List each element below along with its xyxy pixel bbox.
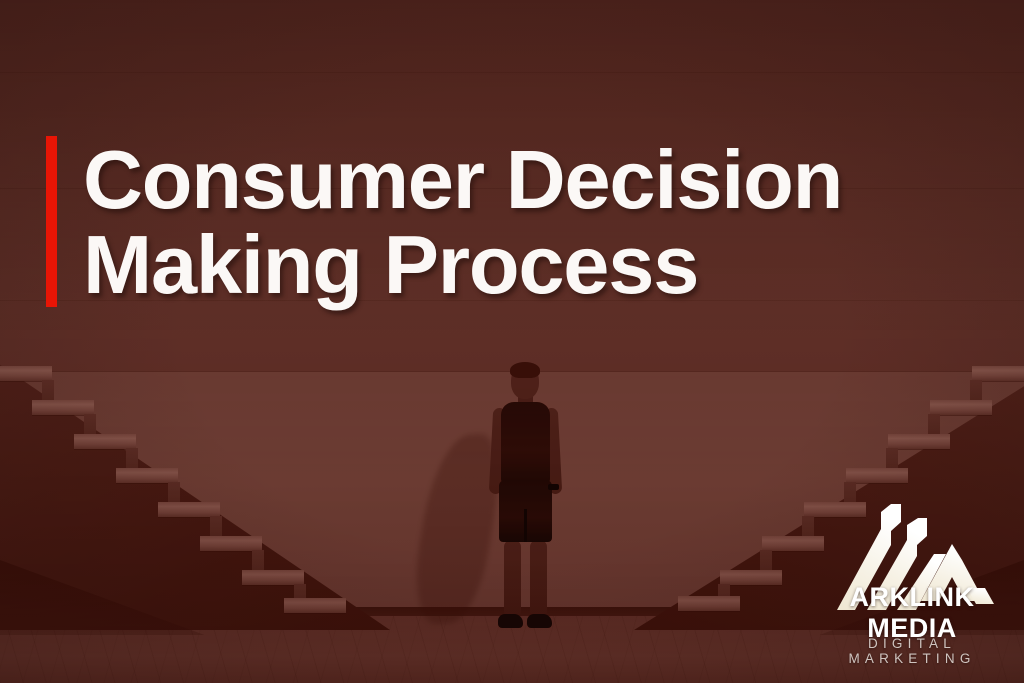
headline-block: Consumer Decision Making Process <box>46 136 842 307</box>
logo-brand-name: ARKLINK MEDIA <box>806 582 1018 644</box>
brand-logo[interactable]: ARKLINK MEDIA DIGITAL MARKETING <box>806 498 1018 670</box>
page-title: Consumer Decision Making Process <box>83 136 842 307</box>
logo-tagline: DIGITAL MARKETING <box>806 636 1018 666</box>
banner-image: Consumer Decision Making Process ARKLINK <box>0 0 1024 683</box>
accent-bar <box>46 136 57 307</box>
